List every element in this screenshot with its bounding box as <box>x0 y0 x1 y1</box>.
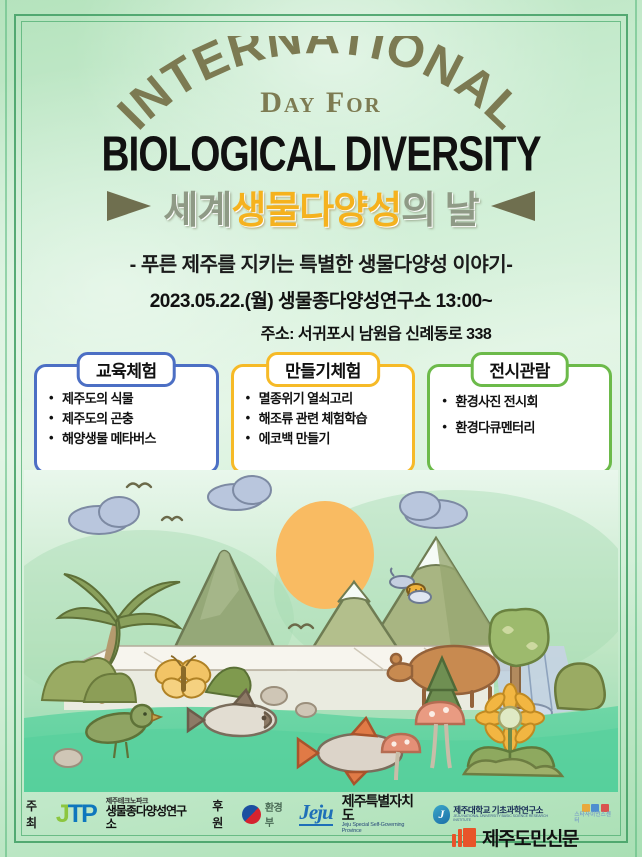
program-title-exhibition: 전시관람 <box>470 352 569 387</box>
program-box-group: 교육체험 제주도의 식물 제주도의 곤충 해양생물 메타버스 만들기체험 멸종위… <box>34 364 612 474</box>
list-item: 환경사진 전시회 <box>442 389 601 415</box>
jtp-logo-j: J <box>56 800 68 828</box>
wm-bar-tall <box>458 829 462 847</box>
list-item: 해조류 관련 체험학습 <box>246 409 405 429</box>
poster-header: INTERNATIONAL Day For BIOLOGICAL DIVERSI… <box>0 0 642 340</box>
star-science-center-logo: 스타사이언스센터 <box>574 804 616 824</box>
newspaper-watermark-text: 제주도민신문 <box>482 824 578 851</box>
program-list-making: 멸종위기 열쇠고리 해조류 관련 체험학습 에코백 만들기 <box>246 389 405 448</box>
program-title-making: 만들기체험 <box>266 352 380 387</box>
wm-open-box <box>463 828 476 847</box>
list-item: 환경다큐멘터리 <box>442 415 601 441</box>
program-box-education[interactable]: 교육체험 제주도의 식물 제주도의 곤충 해양생물 메타버스 <box>34 364 219 474</box>
korean-title-highlight: 생물다양성 <box>231 190 401 232</box>
korean-title-suffix: 의 날 <box>401 190 478 232</box>
event-subtitle: - 푸른 제주를 지키는 특별한 생물다양성 이야기- <box>0 248 642 277</box>
jeju-province-name-ko: 제주특별자치도 <box>342 794 425 823</box>
ministry-of-environment-logo: 환경부 <box>242 799 290 829</box>
list-item: 해양생물 메타버스 <box>49 429 208 449</box>
host-label: 주최 <box>26 797 47 831</box>
jeju-province-name-en: Jeju Special Self-Governing Province <box>342 823 425 835</box>
nature-illustration <box>24 470 618 792</box>
event-datetime: 2023.05.22.(월) 생물종다양성연구소 13:00~ <box>0 286 642 313</box>
triangle-right-icon <box>491 191 535 221</box>
poster-canvas: INTERNATIONAL Day For BIOLOGICAL DIVERSI… <box>0 0 642 857</box>
list-item: 제주도의 식물 <box>49 389 208 409</box>
korean-title-row: 세계생물다양성의 날 <box>0 180 642 232</box>
jnu-institute-text: 제주대학교 기초과학연구소 JEJU NATIONAL UNIVERSITY B… <box>453 806 565 823</box>
header-day-for: Day For <box>0 86 642 120</box>
wm-bar-short <box>452 834 456 847</box>
star-science-center-label: 스타사이언스센터 <box>574 813 616 824</box>
star-square-red <box>601 804 609 812</box>
star-square-yellow <box>582 804 590 812</box>
star-square-blue <box>591 804 599 812</box>
korean-title-prefix: 세계 <box>163 190 231 232</box>
program-title-education: 교육체험 <box>77 352 176 387</box>
program-list-education: 제주도의 식물 제주도의 곤충 해양생물 메타버스 <box>49 389 208 448</box>
newspaper-watermark: 제주도민신문 <box>452 824 578 851</box>
jtp-institute-name: 제주테크노파크 생물종다양성연구소 <box>106 798 195 830</box>
sponsor-label: 후원 <box>212 797 233 831</box>
jnu-name-en: JEJU NATIONAL UNIVERSITY BASIC SCIENCE R… <box>453 815 565 823</box>
jnu-emblem-icon <box>433 805 450 824</box>
event-address: 주소: 서귀포시 남원읍 신례동로 338 <box>0 320 642 344</box>
program-box-exhibition[interactable]: 전시관람 환경사진 전시회 환경다큐멘터리 <box>427 364 612 474</box>
taegeuk-icon <box>242 805 261 824</box>
header-biological-diversity: BIOLOGICAL DIVERSITY <box>10 128 633 183</box>
list-item: 멸종위기 열쇠고리 <box>246 389 405 409</box>
jtp-research-center: 생물종다양성연구소 <box>106 805 195 830</box>
program-box-making[interactable]: 만들기체험 멸종위기 열쇠고리 해조류 관련 체험학습 에코백 만들기 <box>231 364 416 474</box>
korean-title: 세계생물다양성의 날 <box>163 179 478 234</box>
star-squares-icon <box>582 804 609 812</box>
list-item: 제주도의 곤충 <box>49 409 208 429</box>
triangle-left-icon <box>107 191 151 221</box>
list-item: 에코백 만들기 <box>246 429 405 449</box>
jnu-institute-logo: 제주대학교 기초과학연구소 JEJU NATIONAL UNIVERSITY B… <box>433 805 565 824</box>
newspaper-logo-icon <box>452 828 476 847</box>
jtp-logo: JTP <box>56 802 96 827</box>
jeju-province-logo: 제주특별자치도 Jeju Special Self-Governing Prov… <box>342 794 425 835</box>
jtp-logo-t: T <box>68 800 81 828</box>
program-list-exhibition: 환경사진 전시회 환경다큐멘터리 <box>442 389 601 441</box>
ministry-of-environment-label: 환경부 <box>265 799 291 829</box>
bush-icon <box>555 664 605 711</box>
jtp-logo-p: P <box>81 800 96 828</box>
jeju-brand-logo: Jeju <box>299 802 332 826</box>
